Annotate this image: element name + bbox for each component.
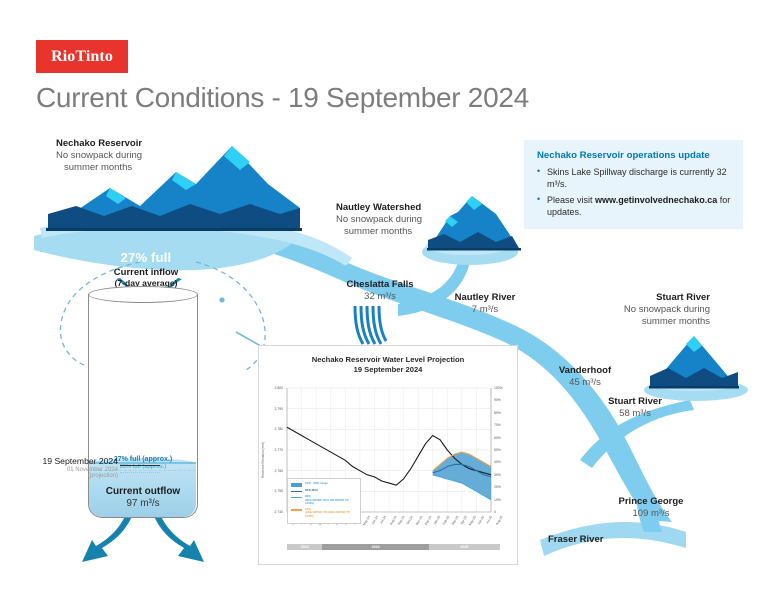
reservoir-tank: 27% full (approx.) 25% full (approx.) Cu…	[88, 286, 198, 526]
label-prince-george: Prince George 109 m³/s	[608, 496, 694, 520]
chart-legend-swatch	[291, 497, 302, 499]
chart-plot-area: Reservoir Elevation (feet) 2,8002,7902,7…	[259, 382, 517, 564]
level-date-annotation: 19 September 2024 01 November 2024 (proj…	[18, 456, 118, 479]
water-level-projection-chart: Nechako Reservoir Water Level Projection…	[258, 345, 518, 565]
cheslatta-falls-icon	[355, 306, 386, 344]
flow-node-right	[219, 297, 224, 302]
chart-y-tick: 2,760	[265, 469, 283, 473]
chart-y2-tick: 60%	[494, 436, 510, 440]
annotation-projection-note: (projection)	[18, 473, 118, 479]
chart-year-band: 2025	[429, 544, 500, 550]
chart-year-band-label: 2023	[287, 544, 322, 550]
reservoir-percent-full-overlay: 27% full	[96, 250, 196, 265]
chart-year-band: 2023	[287, 544, 322, 550]
chart-legend-sublabel: (HIGH WATER YR) (HIGH WATER YR LEVEL)	[305, 511, 357, 517]
inflow-title: Current inflow	[96, 267, 196, 278]
outflow-value: 97 m³/s	[88, 498, 198, 509]
chart-legend-sublabel: (MAX WATER YR) (LOW WATER YR LEVEL)	[305, 499, 357, 505]
operations-update-heading: Nechako Reservoir operations update	[537, 150, 710, 161]
outflow-title: Current outflow	[88, 486, 198, 497]
cheslatta-falls-title: Cheslatta Falls	[336, 279, 424, 291]
annotation-current-date: 19 September 2024	[18, 456, 118, 466]
chart-legend-label: 10% - 90% range	[305, 482, 328, 486]
operations-update-box: Nechako Reservoir operations update Skin…	[524, 140, 743, 229]
chart-legend-label: 90%(MAX WATER YR) (LOW WATER YR LEVEL)	[305, 495, 357, 505]
operations-update-list: Skins Lake Spillway discharge is current…	[537, 166, 733, 223]
chart-y2-tick: 90%	[494, 398, 510, 402]
chart-legend-swatch	[291, 491, 302, 493]
stuart-watershed-line1: No snowpack during	[592, 304, 710, 316]
chart-y2-tick: 30%	[494, 473, 510, 477]
operations-update-bullet-2: Please visit www.getinvolvednechako.ca f…	[537, 194, 733, 218]
label-fraser-river: Fraser River	[548, 534, 603, 546]
prince-george-title: Prince George	[608, 496, 694, 508]
chart-y2-tick: 80%	[494, 411, 510, 415]
chart-subtitle: 19 September 2024	[259, 365, 517, 375]
label-stuart-watershed: Stuart River No snowpack during summer m…	[592, 292, 710, 328]
cheslatta-falls-value: 32 m³/s	[336, 291, 424, 303]
label-nautley-river: Nautley River 7 m³/s	[444, 292, 526, 316]
chart-legend-swatch	[291, 483, 302, 487]
chart-title-block: Nechako Reservoir Water Level Projection…	[259, 355, 517, 376]
chart-y2-tick: 100%	[494, 386, 510, 390]
chart-y-tick: 2,780	[265, 427, 283, 431]
stuart-mountain-icon	[649, 336, 739, 389]
infographic-canvas: RioTinto Current Conditions - 19 Septemb…	[0, 0, 768, 593]
chart-y2-tick: 70%	[494, 423, 510, 427]
chart-y2-tick: 20%	[494, 485, 510, 489]
nautley-watershed-line1: No snowpack during	[336, 214, 422, 226]
chart-legend-item: 10%(HIGH WATER YR) (HIGH WATER YR LEVEL)	[291, 508, 357, 518]
chart-legend-swatch	[291, 509, 302, 511]
stuart-watershed-title: Stuart River	[592, 292, 710, 304]
vanderhoof-title: Vanderhoof	[548, 365, 622, 377]
nechako-website-link[interactable]: www.getinvolvednechako.ca	[595, 195, 717, 205]
label-stuart-river: Stuart River 58 m³/s	[596, 396, 674, 420]
chart-legend-item: 10% - 90% range	[291, 482, 357, 487]
page-title: Current Conditions - 19 September 2024	[36, 82, 529, 114]
nautley-river-value: 7 m³/s	[444, 304, 526, 316]
stuart-river-value: 58 m³/s	[596, 408, 674, 420]
chart-legend-label: 10%(HIGH WATER YR) (HIGH WATER YR LEVEL)	[305, 508, 357, 518]
nechako-reservoir-title: Nechako Reservoir	[56, 138, 142, 150]
stuart-watershed-line2: summer months	[592, 316, 710, 328]
chart-y2-tick: 50%	[494, 448, 510, 452]
operations-update-bullet-1: Skins Lake Spillway discharge is current…	[537, 166, 733, 190]
chart-y-tick: 2,770	[265, 448, 283, 452]
fraser-river-title: Fraser River	[548, 534, 603, 546]
prince-george-value: 109 m³/s	[608, 508, 694, 520]
rio-tinto-logo: RioTinto	[36, 40, 128, 73]
chart-year-band: 2024	[322, 544, 428, 550]
label-nechako-reservoir: Nechako Reservoir No snowpack during sum…	[56, 138, 142, 174]
label-vanderhoof: Vanderhoof 45 m³/s	[548, 365, 622, 389]
chart-y2-tick: 10%	[494, 498, 510, 502]
nautley-watershed-line2: summer months	[344, 226, 422, 238]
outflow-label-group: Current outflow 97 m³/s	[88, 486, 198, 509]
label-cheslatta-falls: Cheslatta Falls 32 m³/s	[336, 279, 424, 303]
annotation-leader-line-dotted	[120, 472, 160, 473]
label-nautley-watershed: Nautley Watershed No snowpack during sum…	[336, 202, 422, 238]
nautley-river-title: Nautley River	[444, 292, 526, 304]
chart-y2-tick: 40%	[494, 460, 510, 464]
nechako-reservoir-line2: summer months	[64, 162, 142, 174]
tank-rim	[88, 286, 198, 303]
bullet-2-text-before: Please visit	[547, 195, 595, 205]
nechako-reservoir-line1: No snowpack during	[56, 150, 142, 162]
chart-y-tick: 2,800	[265, 386, 283, 390]
chart-legend: 10% - 90% range50% MAX90%(MAX WATER YR) …	[287, 478, 361, 524]
chart-y-tick: 2,750	[265, 489, 283, 493]
stuart-river-title: Stuart River	[596, 396, 674, 408]
vanderhoof-value: 45 m³/s	[548, 377, 622, 389]
annotation-leader-line	[120, 465, 160, 466]
chart-y-tick: 2,790	[265, 407, 283, 411]
chart-y-tick: 2,740	[265, 510, 283, 514]
chart-legend-item: 50% MAX	[291, 489, 357, 493]
bullet-1-text: Skins Lake Spillway discharge is current…	[547, 167, 727, 189]
chart-svg	[259, 382, 517, 564]
logo-text: RioTinto	[51, 48, 113, 66]
nautley-watershed-title: Nautley Watershed	[336, 202, 422, 214]
chart-legend-item: 90%(MAX WATER YR) (LOW WATER YR LEVEL)	[291, 495, 357, 505]
chart-year-band-label: 2024	[322, 544, 428, 550]
nautley-mountain-icon	[427, 196, 521, 251]
tank-level-current: 27% full (approx.)	[114, 456, 172, 463]
chart-legend-label: 50% MAX	[305, 489, 318, 493]
chart-title: Nechako Reservoir Water Level Projection	[259, 355, 517, 365]
chart-y2-tick: 0	[494, 510, 510, 514]
chart-year-band-label: 2025	[429, 544, 500, 550]
